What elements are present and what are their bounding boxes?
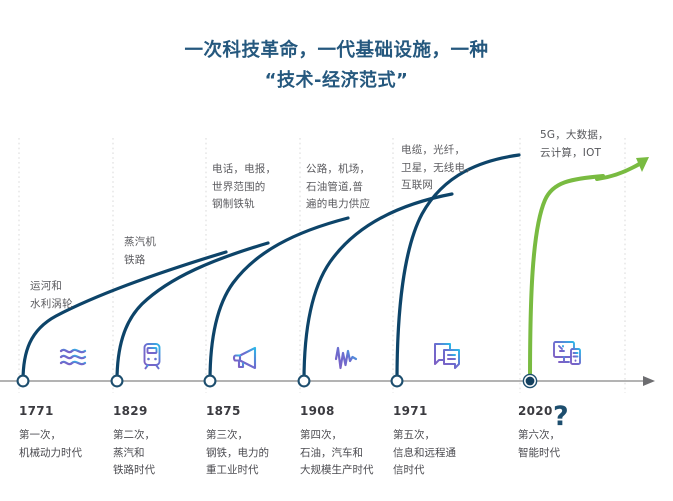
node-1771[interactable] xyxy=(18,376,29,387)
annotation-1771: 运河和 水利涡轮 xyxy=(30,278,73,313)
node-1971[interactable] xyxy=(392,376,403,387)
annotation-1829: 蒸汽机 铁路 xyxy=(124,234,156,269)
tick-1908-era-1: 石油，汽车和 xyxy=(300,445,374,463)
tick-1771-ordinal: 第一次， xyxy=(19,427,82,445)
waveform-icon xyxy=(325,341,359,375)
annotation-1908: 公路，机场， 石油管道,普 遍的电力供应 xyxy=(306,161,370,214)
tick-1971-year: 1971 xyxy=(393,404,456,418)
tick-1829-ordinal: 第二次， xyxy=(113,427,155,445)
annotation-2020: 5G，大数据， 云计算，IOT xyxy=(540,127,609,162)
node-2020-fill xyxy=(526,377,535,386)
train-icon xyxy=(135,338,169,372)
s-curve-1771 xyxy=(23,252,226,381)
axis-arrowhead xyxy=(643,376,655,386)
chat-bubbles-icon xyxy=(430,338,464,372)
annotation-1971: 电缆，光纤， 卫星，无线电， 互联网 xyxy=(401,142,476,195)
tick-1908-era-2: 大规模生产时代 xyxy=(300,462,374,480)
tick-1971: 1971 第五次， 信息和远程通 信时代 xyxy=(393,404,456,480)
megaphone-icon xyxy=(228,341,262,375)
tick-1875-ordinal: 第三次， xyxy=(206,427,269,445)
annotation-2020-line-1: 5G，大数据， xyxy=(540,127,609,145)
tick-1908-year: 1908 xyxy=(300,404,374,418)
annotation-2020-line-2: 云计算，IOT xyxy=(540,145,609,163)
tick-1771-era-1: 机械动力时代 xyxy=(19,445,82,463)
tick-1771-year: 1771 xyxy=(19,404,82,418)
s-curve-2020-group xyxy=(530,157,649,381)
annotation-1908-line-3: 遍的电力供应 xyxy=(306,196,370,214)
infographic-canvas: 一次科技革命，一代基础设施，一种 “技术-经济范式” xyxy=(0,0,673,501)
tick-1829-era-1: 蒸汽和 xyxy=(113,445,155,463)
annotation-1971-line-3: 互联网 xyxy=(401,177,476,195)
annotation-1971-line-2: 卫星，无线电， xyxy=(401,160,476,178)
tick-1908-ordinal: 第四次， xyxy=(300,427,374,445)
tick-1971-ordinal: 第五次， xyxy=(393,427,456,445)
node-1875[interactable] xyxy=(205,376,216,387)
waves-icon xyxy=(57,340,91,374)
annotation-1908-line-2: 石油管道,普 xyxy=(306,179,370,197)
tick-1875-year: 1875 xyxy=(206,404,269,418)
annotation-1829-line-2: 铁路 xyxy=(124,252,156,270)
tick-1829-year: 1829 xyxy=(113,404,155,418)
tick-2020-era-1: 智能时代 xyxy=(518,445,560,463)
tick-1971-era-1: 信息和远程通 xyxy=(393,445,456,463)
annotation-1908-line-1: 公路，机场， xyxy=(306,161,370,179)
annotation-1875-line-3: 钢制铁轨 xyxy=(212,196,276,214)
tick-1875: 1875 第三次， 钢铁，电力的 重工业时代 xyxy=(206,404,269,480)
annotation-1875-line-1: 电话，电报， xyxy=(212,161,276,179)
question-mark-marker: ? xyxy=(553,403,569,430)
annotation-1771-line-1: 运河和 xyxy=(30,278,73,296)
node-1829[interactable] xyxy=(112,376,123,387)
timeline-axis xyxy=(0,376,655,386)
growth-arrow-tail xyxy=(597,163,641,179)
tick-1875-era-2: 重工业时代 xyxy=(206,462,269,480)
annotation-1875-line-2: 世界范围的 xyxy=(212,179,276,197)
tick-1971-era-2: 信时代 xyxy=(393,462,456,480)
monitor-devices-icon xyxy=(550,335,584,369)
annotation-1971-line-1: 电缆，光纤， xyxy=(401,142,476,160)
annotation-1875: 电话，电报， 世界范围的 钢制铁轨 xyxy=(212,161,276,214)
node-1908[interactable] xyxy=(299,376,310,387)
annotation-1829-line-1: 蒸汽机 xyxy=(124,234,156,252)
tick-1771: 1771 第一次， 机械动力时代 xyxy=(19,404,82,462)
tick-1908: 1908 第四次， 石油，汽车和 大规模生产时代 xyxy=(300,404,374,480)
tick-1829: 1829 第二次， 蒸汽和 铁路时代 xyxy=(113,404,155,480)
annotation-1771-line-2: 水利涡轮 xyxy=(30,296,73,314)
tick-1875-era-1: 钢铁，电力的 xyxy=(206,445,269,463)
tick-1829-era-2: 铁路时代 xyxy=(113,462,155,480)
